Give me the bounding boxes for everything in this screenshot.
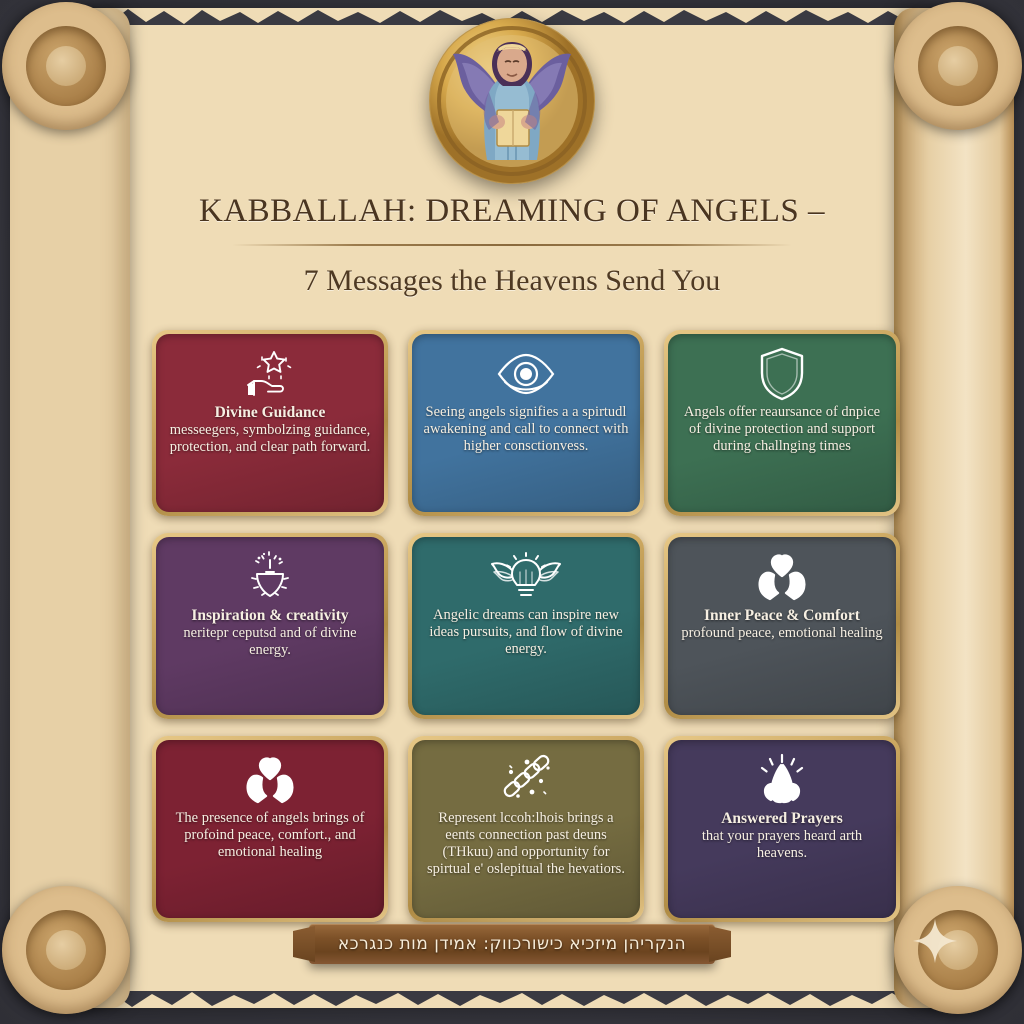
message-card-grid: Divine Guidancemesseegers, symbolzing gu… — [152, 330, 900, 922]
heart-in-hands-icon — [238, 754, 302, 806]
scroll-curl-bottom-left — [2, 886, 130, 1014]
card-inner: Inspiration & creativityneritepr ceputsd… — [156, 537, 384, 715]
page-subtitle: 7 Messages the Heavens Send You — [14, 264, 1010, 298]
card-inner: Angelic dreams can inspire new ideas pur… — [412, 537, 640, 715]
angel-medallion — [429, 18, 595, 184]
message-card-divine-protection[interactable]: Angels offer reaursance of dnpice of div… — [664, 330, 900, 516]
message-card-angelic-dreams[interactable]: Angelic dreams can inspire new ideas pur… — [408, 533, 644, 719]
card-text: Inspiration & creativityneritepr ceputsd… — [156, 607, 384, 659]
card-lead: Inner Peace & Comfort — [681, 607, 882, 625]
card-text: Represent lccoh:lhois brings a eents con… — [412, 810, 640, 878]
scroll-illustration: KABBALLAH: DREAMING OF ANGELS – 7 Messag… — [14, 8, 1010, 1016]
card-text: Divine Guidancemesseegers, symbolzing gu… — [156, 404, 384, 456]
scroll-left-curl — [10, 8, 130, 1008]
scroll-curl-top-right — [894, 2, 1022, 130]
card-inner: Seeing angels signifies a a spirtudl awa… — [412, 334, 640, 512]
chain-link-atom-icon — [496, 754, 556, 806]
card-text: The presence of angels brings of profoin… — [156, 810, 384, 861]
card-inner: Angels offer reaursance of dnpice of div… — [668, 334, 896, 512]
parchment-torn-bottom-edge — [92, 991, 932, 1009]
card-inner: The presence of angels brings of profoin… — [156, 740, 384, 918]
message-card-spiritual-awakening[interactable]: Seeing angels signifies a a spirtudl awa… — [408, 330, 644, 516]
card-body: profound peace, emotional healing — [681, 625, 882, 641]
card-body: that your prayers heard arth heavens. — [702, 828, 862, 861]
card-lead: Answered Prayers — [678, 810, 886, 828]
card-inner: Divine Guidancemesseegers, symbolzing gu… — [156, 334, 384, 512]
card-body: The presence of angels brings of profoin… — [176, 810, 365, 860]
card-body: Angelic dreams can inspire new ideas pur… — [429, 607, 622, 657]
lamp-sparkle-icon — [242, 551, 298, 603]
heart-in-hands-icon — [750, 551, 814, 603]
card-lead: Divine Guidance — [166, 404, 374, 422]
message-card-presence-of-angels[interactable]: The presence of angels brings of profoin… — [152, 736, 388, 922]
card-text: Answered Prayersthat your prayers heard … — [668, 810, 896, 862]
card-body: messeegers, symbolzing guidance, protect… — [170, 422, 371, 455]
winged-lightbulb-icon — [490, 551, 562, 603]
message-card-inner-peace-comfort[interactable]: Inner Peace & Comfortprofound peace, emo… — [664, 533, 900, 719]
eye-icon — [495, 348, 557, 400]
card-text: Inner Peace & Comfortprofound peace, emo… — [671, 607, 892, 642]
angel-with-book-icon — [429, 18, 595, 184]
card-inner: Answered Prayersthat your prayers heard … — [668, 740, 896, 918]
header-block: KABBALLAH: DREAMING OF ANGELS – 7 Messag… — [14, 193, 1010, 298]
card-text: Angelic dreams can inspire new ideas pur… — [412, 607, 640, 658]
message-card-inspiration-creativity[interactable]: Inspiration & creativityneritepr ceputsd… — [152, 533, 388, 719]
scroll-right-curl — [894, 8, 1014, 1008]
message-card-answered-prayers[interactable]: Answered Prayersthat your prayers heard … — [664, 736, 900, 922]
hand-with-star-icon — [242, 348, 298, 400]
card-body: Seeing angels signifies a a spirtudl awa… — [424, 404, 629, 454]
banner-text: הנקריהן מיזכיא כישורכווק: אמידן מות כנגר… — [338, 934, 686, 954]
card-body: Angels offer reaursance of dnpice of div… — [684, 404, 880, 454]
page-title: KABBALLAH: DREAMING OF ANGELS – — [14, 193, 1010, 230]
shield-icon — [759, 348, 805, 400]
message-card-soul-connection[interactable]: Represent lccoh:lhois brings a eents con… — [408, 736, 644, 922]
praying-hands-icon — [754, 754, 810, 806]
infographic-canvas: KABBALLAH: DREAMING OF ANGELS – 7 Messag… — [0, 0, 1024, 1024]
card-body: Represent lccoh:lhois brings a eents con… — [427, 810, 625, 877]
card-text: Seeing angels signifies a a spirtudl awa… — [412, 404, 640, 455]
card-inner: Represent lccoh:lhois brings a eents con… — [412, 740, 640, 918]
scroll-curl-top-left — [2, 2, 130, 130]
title-divider — [232, 244, 792, 246]
hebrew-footer-banner: הנקריהן מיזכיא כישורכווק: אמידן מות כנגר… — [309, 924, 715, 964]
card-body: neritepr ceputsd and of divine energy. — [183, 625, 356, 658]
card-text: Angels offer reaursance of dnpice of div… — [668, 404, 896, 455]
card-lead: Inspiration & creativity — [166, 607, 374, 625]
four-point-star-sparkle-icon — [912, 918, 958, 964]
message-card-divine-guidance[interactable]: Divine Guidancemesseegers, symbolzing gu… — [152, 330, 388, 516]
card-inner: Inner Peace & Comfortprofound peace, emo… — [668, 537, 896, 715]
